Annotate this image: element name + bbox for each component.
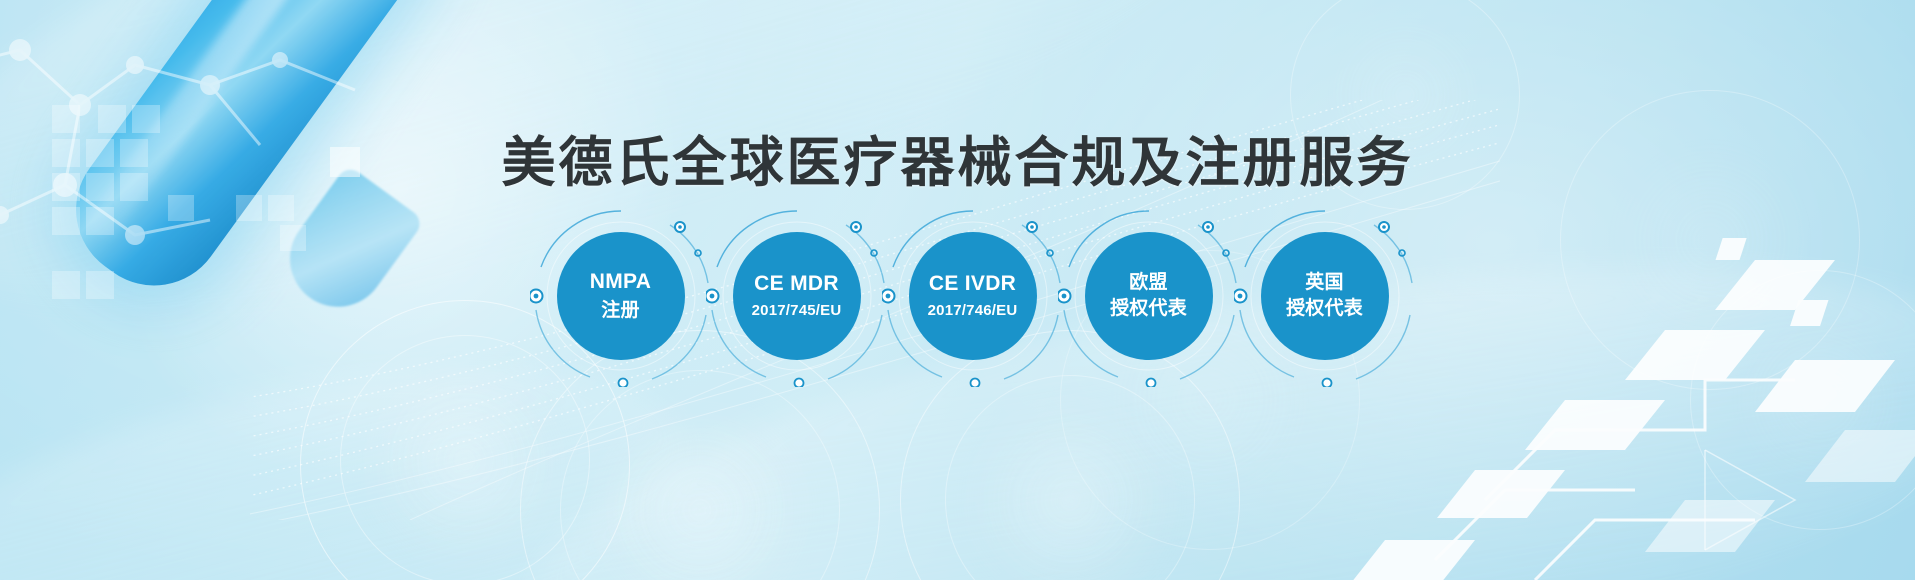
badge-ce-ivdr[interactable]: CE IVDR 2017/746/EU bbox=[909, 232, 1037, 360]
banner: 美德氏全球医疗器械合规及注册服务 NMPA 注册 bbox=[0, 0, 1915, 580]
concentric-circle-decor bbox=[560, 370, 840, 580]
badge-line2: 授权代表 bbox=[1286, 298, 1363, 320]
badge-eu-rep[interactable]: 欧盟 授权代表 bbox=[1085, 232, 1213, 360]
badge-line1: CE MDR bbox=[754, 272, 839, 297]
badge-disc: CE MDR 2017/745/EU bbox=[733, 232, 861, 360]
concentric-circle-decor bbox=[945, 375, 1195, 580]
page-title: 美德氏全球医疗器械合规及注册服务 bbox=[0, 118, 1915, 197]
badge-line1: 英国 bbox=[1305, 272, 1344, 294]
badge-line1: 欧盟 bbox=[1129, 272, 1168, 294]
badge-line1: NMPA bbox=[590, 270, 651, 295]
badge-ce-mdr[interactable]: CE MDR 2017/745/EU bbox=[733, 232, 861, 360]
badge-uk-rep[interactable]: 英国 授权代表 bbox=[1261, 232, 1389, 360]
badge-disc: NMPA 注册 bbox=[557, 232, 685, 360]
badge-nmpa[interactable]: NMPA 注册 bbox=[557, 232, 685, 360]
badge-line2: 授权代表 bbox=[1110, 298, 1187, 320]
badge-line1: CE IVDR bbox=[929, 272, 1016, 297]
badge-line2: 2017/746/EU bbox=[928, 302, 1018, 320]
badge-line2: 2017/745/EU bbox=[752, 302, 842, 320]
badge-row: NMPA 注册 CE MDR 2017/745/EU bbox=[0, 232, 1915, 360]
badge-disc: CE IVDR 2017/746/EU bbox=[909, 232, 1037, 360]
badge-line2: 注册 bbox=[601, 300, 639, 322]
badge-disc: 英国 授权代表 bbox=[1261, 232, 1389, 360]
badge-disc: 欧盟 授权代表 bbox=[1085, 232, 1213, 360]
